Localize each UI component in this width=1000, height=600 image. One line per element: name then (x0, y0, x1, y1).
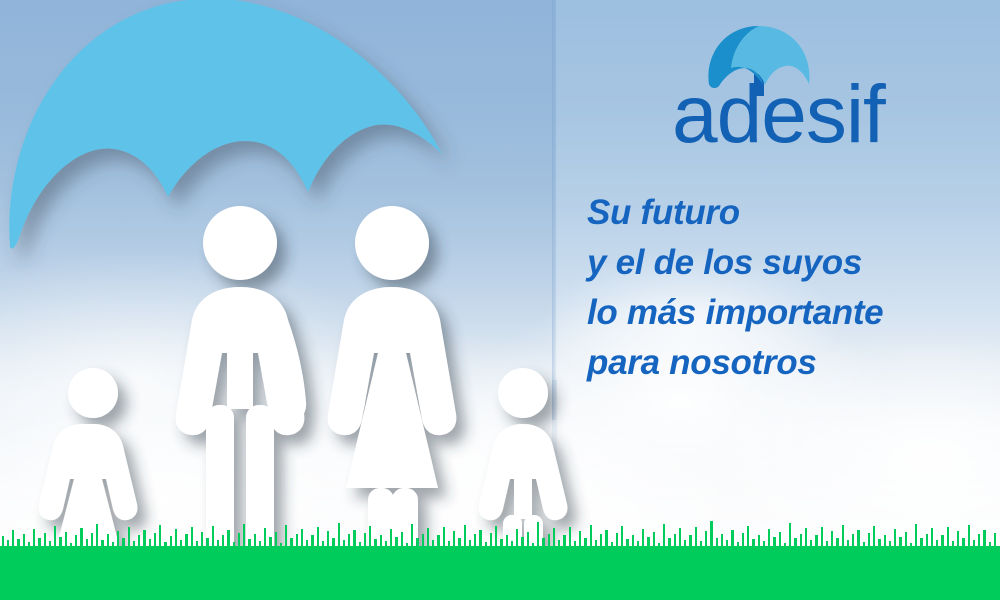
tagline: Su futuro y el de los suyos lo más impor… (587, 188, 987, 388)
grass-strip (0, 520, 1000, 600)
tagline-line-1: Su futuro (587, 188, 987, 238)
brand-lockup: adesif (575, 8, 995, 168)
tagline-line-3: lo más importante (587, 288, 987, 338)
brand-wordmark: adesif (672, 74, 885, 156)
advertisement-banner: adesif Su futuro y el de los suyos lo má… (0, 0, 1000, 600)
tagline-line-2: y el de los suyos (587, 238, 987, 288)
tagline-line-4: para nosotros (587, 338, 987, 388)
